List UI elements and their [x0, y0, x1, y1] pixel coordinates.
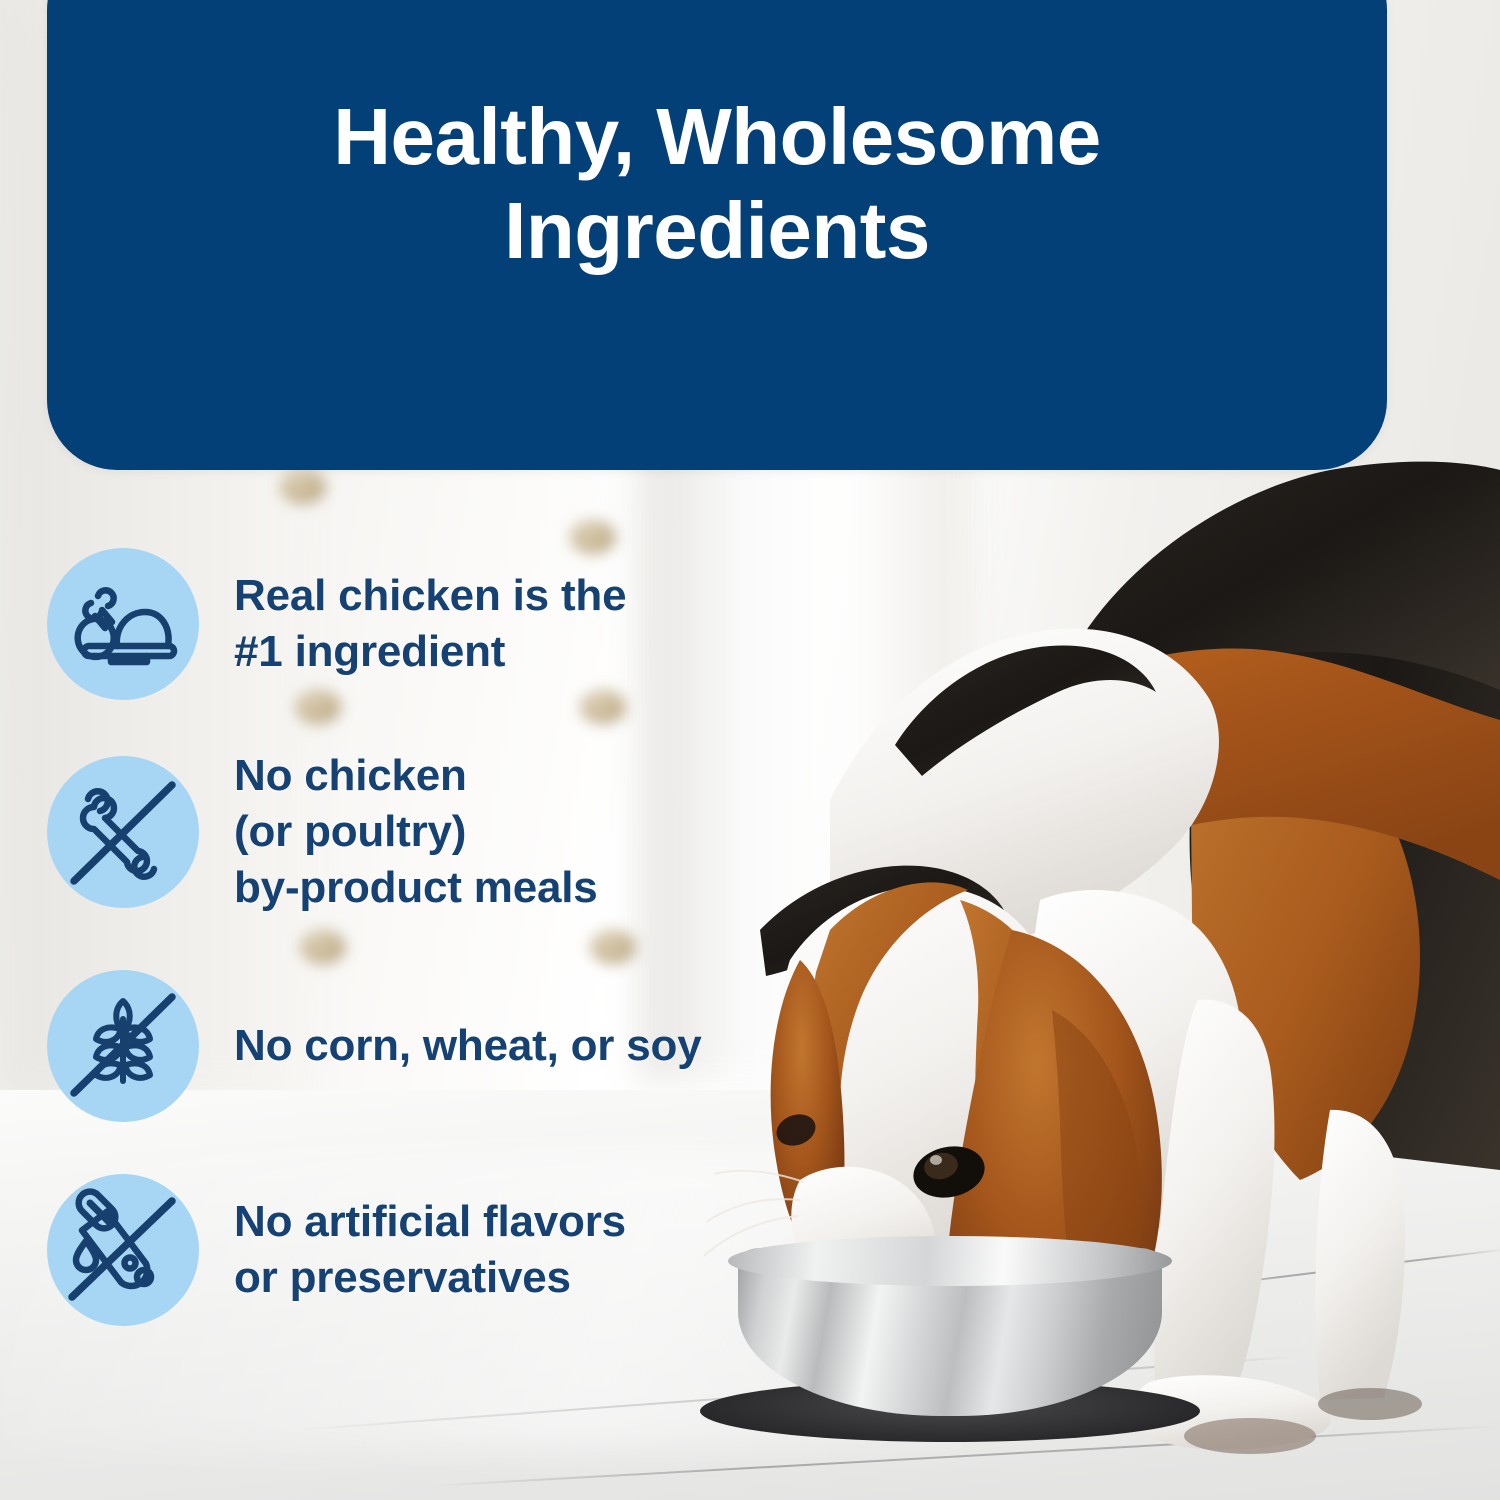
feature-line: (or poultry) [234, 804, 598, 860]
feature-line: #1 ingredient [234, 624, 626, 680]
feature-item-no-byproduct: No chicken (or poultry) by-product meals [47, 748, 807, 916]
page-title-line-1: Healthy, Wholesome [117, 90, 1317, 184]
no-test-tube-icon [47, 1174, 199, 1326]
header-banner: Healthy, Wholesome Ingredients [47, 0, 1387, 470]
feature-line: No artificial flavors [234, 1194, 626, 1250]
feature-item-real-chicken: Real chicken is the #1 ingredient [47, 548, 807, 700]
feature-item-no-grain: No corn, wheat, or soy [47, 970, 807, 1122]
feature-text-no-artificial: No artificial flavors or preservatives [234, 1194, 626, 1306]
feature-text-no-byproduct: No chicken (or poultry) by-product meals [234, 748, 598, 916]
feature-line: No chicken [234, 748, 598, 804]
page-title: Healthy, Wholesome Ingredients [47, 90, 1387, 279]
feature-line: by-product meals [234, 860, 598, 916]
infographic-canvas: Healthy, Wholesome Ingredients [0, 0, 1500, 1500]
feature-line: or preservatives [234, 1250, 626, 1306]
feature-item-no-artificial: No artificial flavors or preservatives [47, 1174, 807, 1326]
no-bone-icon [47, 756, 199, 908]
feature-line: No corn, wheat, or soy [234, 1018, 701, 1074]
no-wheat-icon [47, 970, 199, 1122]
feature-list: Real chicken is the #1 ingredient No chi… [47, 548, 807, 1372]
feature-text-real-chicken: Real chicken is the #1 ingredient [234, 568, 626, 680]
roast-chicken-platter-icon [47, 548, 199, 700]
page-title-line-2: Ingredients [117, 184, 1317, 278]
feature-line: Real chicken is the [234, 568, 626, 624]
feature-text-no-grain: No corn, wheat, or soy [234, 1018, 701, 1074]
